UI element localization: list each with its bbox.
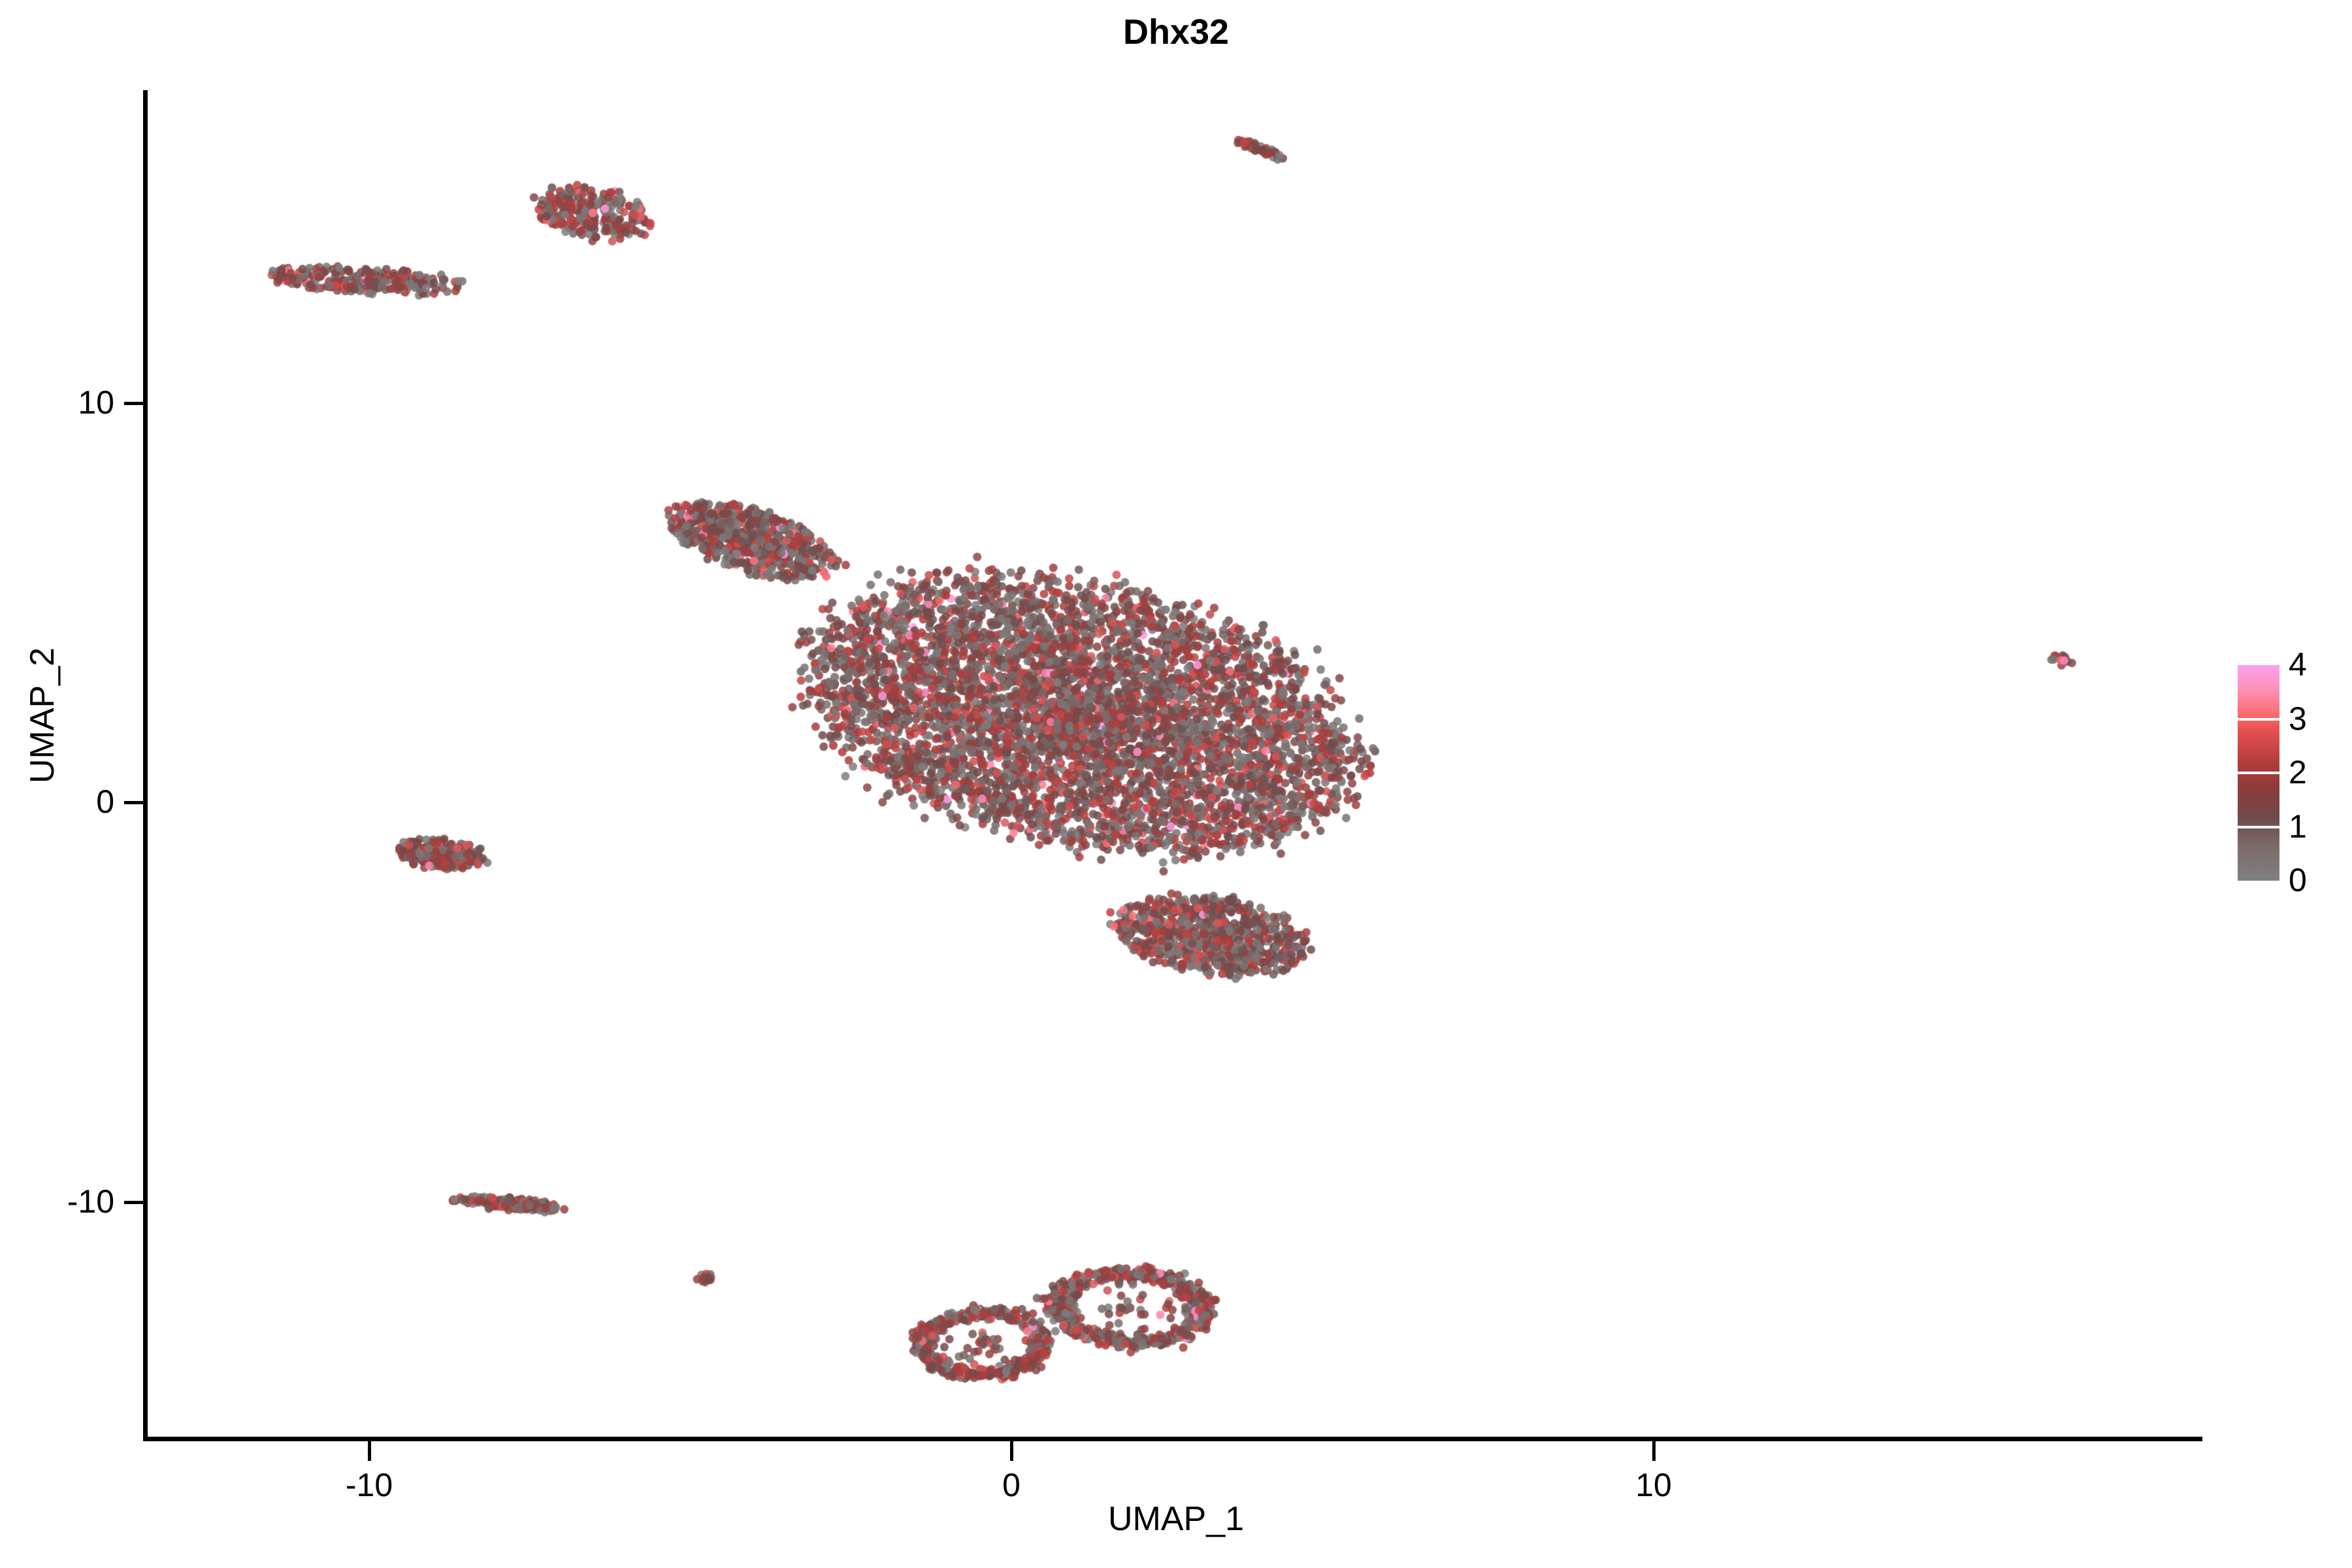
- x-tick-mark: [368, 1441, 371, 1461]
- x-axis-label: UMAP_1: [0, 1499, 2352, 1539]
- legend-label: 2: [2289, 756, 2341, 789]
- color-legend: 43210: [2238, 665, 2336, 887]
- x-tick-label: -10: [304, 1469, 434, 1501]
- y-tick-label: 10: [7, 386, 114, 419]
- scatter-points: [146, 91, 2202, 1437]
- y-tick-mark: [124, 1201, 144, 1204]
- y-tick-mark: [124, 402, 144, 405]
- scatter-plot-panel: [146, 91, 2202, 1437]
- legend-tick-mark: [2238, 718, 2279, 721]
- y-tick-label: -10: [7, 1185, 114, 1218]
- legend-label: 4: [2289, 648, 2341, 681]
- x-tick-label: 10: [1588, 1469, 1719, 1501]
- y-tick-label: 0: [7, 785, 114, 818]
- x-tick-label: 0: [946, 1469, 1077, 1501]
- y-axis-label: UMAP_2: [23, 532, 62, 898]
- y-tick-mark: [124, 801, 144, 804]
- legend-label: 0: [2289, 864, 2341, 896]
- page-title: Dhx32: [0, 14, 2352, 50]
- figure-root: Dhx32 UMAP_2 UMAP_1 100-10-10010 43210: [0, 0, 2352, 1568]
- x-tick-mark: [1652, 1441, 1656, 1461]
- x-axis-line: [143, 1437, 2202, 1441]
- legend-label: 1: [2289, 810, 2341, 843]
- legend-label: 3: [2289, 702, 2341, 735]
- x-tick-mark: [1010, 1441, 1013, 1461]
- legend-tick-mark: [2238, 772, 2279, 774]
- legend-tick-mark: [2238, 826, 2279, 828]
